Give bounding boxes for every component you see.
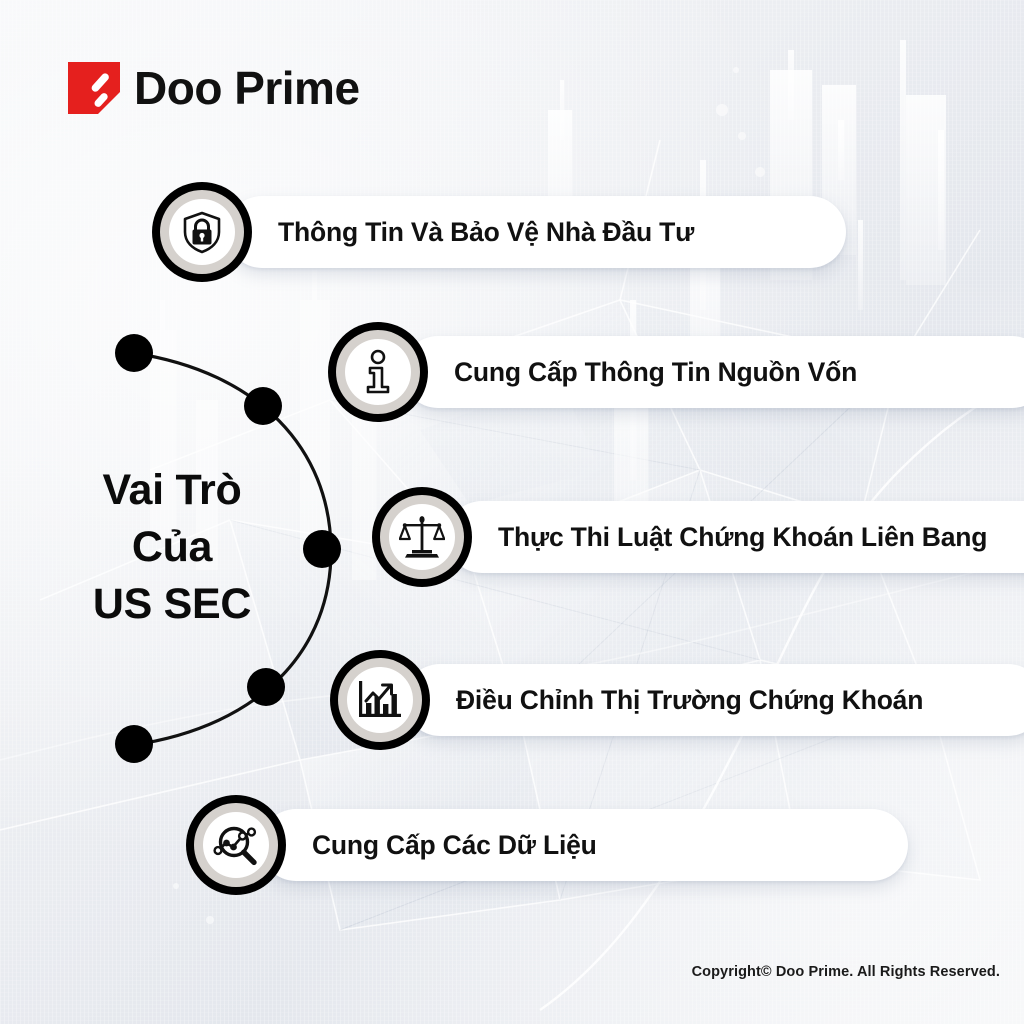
connector-dot-2 <box>244 387 282 425</box>
item-pill[interactable]: Cung Cấp Thông Tin Nguồn Vốn <box>402 336 1024 408</box>
list-item[interactable]: Điều Chỉnh Thị Trường Chứng Khoán <box>330 650 1024 750</box>
scales-of-justice-icon <box>399 514 445 560</box>
item-pill[interactable]: Điều Chỉnh Thị Trường Chứng Khoán <box>404 664 1024 736</box>
connector-dot-1 <box>115 334 153 372</box>
badge-icon-container <box>186 795 286 895</box>
shield-lock-icon <box>181 210 223 254</box>
connector-dot-3 <box>303 530 341 568</box>
list-item[interactable]: Cung Cấp Các Dữ Liệu <box>186 795 908 895</box>
item-pill[interactable]: Thông Tin Và Bảo Vệ Nhà Đầu Tư <box>226 196 846 268</box>
list-item[interactable]: Thông Tin Và Bảo Vệ Nhà Đầu Tư <box>152 182 846 282</box>
list-item[interactable]: Thực Thi Luật Chứng Khoán Liên Bang <box>372 487 1024 587</box>
item-pill[interactable]: Cung Cấp Các Dữ Liệu <box>260 809 908 881</box>
copyright-notice: Copyright© Doo Prime. All Rights Reserve… <box>692 964 1000 980</box>
item-label: Thông Tin Và Bảo Vệ Nhà Đầu Tư <box>278 217 694 248</box>
badge-icon-container <box>328 322 428 422</box>
connector-dots <box>115 334 341 763</box>
connector-dot-5 <box>115 725 153 763</box>
badge-icon-container <box>372 487 472 587</box>
item-label: Cung Cấp Các Dữ Liệu <box>312 830 597 861</box>
item-label: Cung Cấp Thông Tin Nguồn Vốn <box>454 357 857 388</box>
badge-icon-container <box>152 182 252 282</box>
list-item[interactable]: Cung Cấp Thông Tin Nguồn Vốn <box>328 322 1024 422</box>
badge-icon-container <box>330 650 430 750</box>
item-label: Điều Chỉnh Thị Trường Chứng Khoán <box>456 685 923 716</box>
info-circle-icon <box>361 349 395 395</box>
item-pill[interactable]: Thực Thi Luật Chứng Khoán Liên Bang <box>446 501 1024 573</box>
infographic-canvas: Doo Prime Vai Trò Của US SEC <box>0 0 1024 1024</box>
item-label: Thực Thi Luật Chứng Khoán Liên Bang <box>498 522 987 553</box>
magnifier-data-icon <box>213 822 259 868</box>
connector-dot-4 <box>247 668 285 706</box>
bar-chart-growth-icon <box>357 679 403 721</box>
